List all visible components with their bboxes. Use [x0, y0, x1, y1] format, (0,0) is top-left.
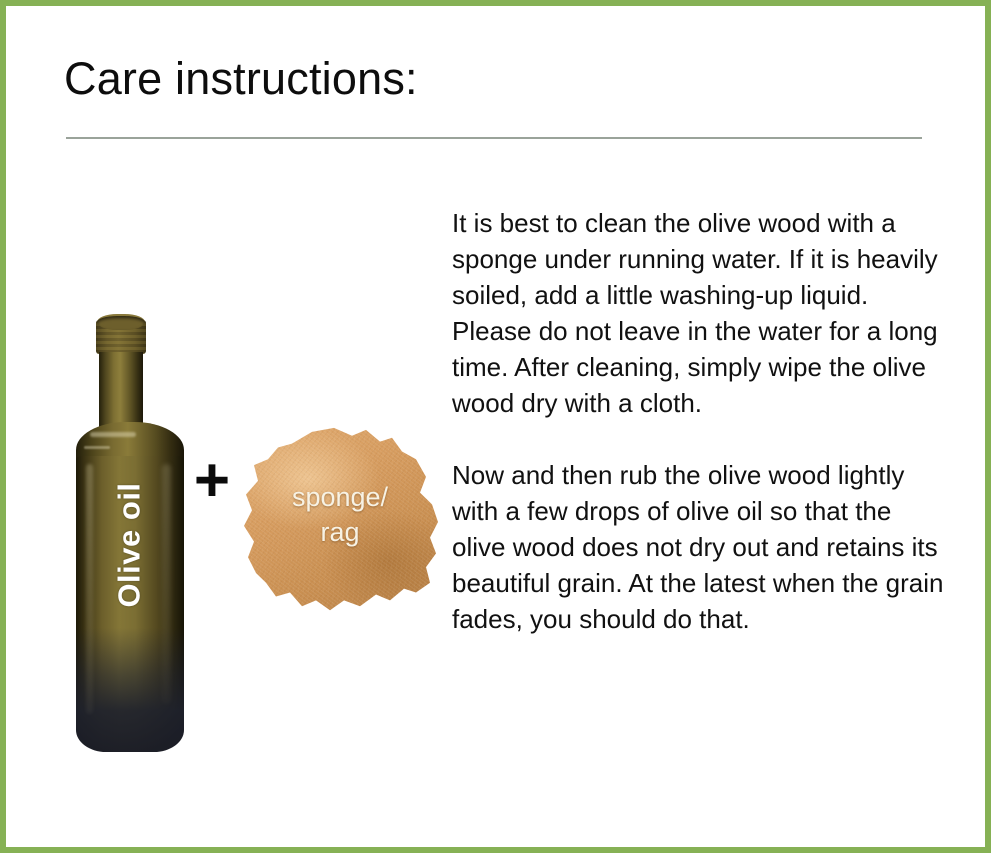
- bottle-highlight-shoulder: [90, 432, 136, 437]
- care-instructions-text: It is best to clean the olive wood with …: [452, 205, 948, 637]
- sponge-shape: [240, 424, 440, 620]
- paragraph-oiling: Now and then rub the olive wood lightly …: [452, 457, 948, 637]
- bottle-opening: [97, 314, 145, 330]
- bottle-highlight-shoulder-secondary: [84, 446, 110, 449]
- paragraph-cleaning: It is best to clean the olive wood with …: [452, 205, 948, 421]
- bottle-highlight-right: [162, 464, 171, 704]
- care-instructions-page: Care instructions: Olive oil + sponge/ r…: [0, 0, 991, 853]
- olive-oil-bottle-image: Olive oil: [70, 314, 190, 754]
- bottle-highlight-left: [86, 464, 93, 714]
- bottle-neck: [99, 352, 143, 430]
- plus-icon: +: [188, 450, 236, 512]
- ingredients-illustration: Olive oil + sponge/ rag: [6, 6, 446, 853]
- sponge-rag-image: sponge/ rag: [240, 424, 440, 620]
